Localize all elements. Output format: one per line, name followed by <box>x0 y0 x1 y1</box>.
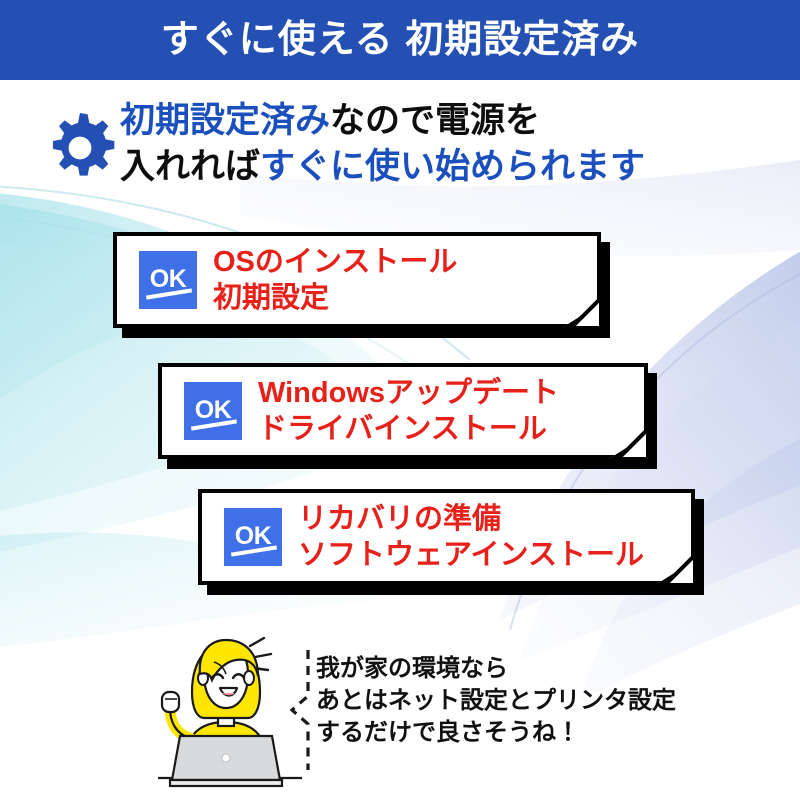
headline-line-1: 初期設定済みなので電源を <box>120 98 796 144</box>
feature-card-os-install: OK OSのインストール 初期設定 <box>113 232 601 328</box>
card-line-2: 初期設定 <box>213 280 457 316</box>
header-banner: すぐに使える 初期設定済み <box>0 0 800 80</box>
card-line-2: ソフトウェアインストール <box>298 537 644 573</box>
ok-badge-icon: OK <box>184 382 242 440</box>
bubble-line-2: あとはネット設定とプリンタ設定 <box>316 685 706 717</box>
card-line-2: ドライバインストール <box>258 411 559 447</box>
ok-badge-icon: OK <box>224 508 282 566</box>
headline-text: 初期設定済みなので電源を 入れればすぐに使い始められます <box>120 98 796 190</box>
card-line-1: リカバリの準備 <box>298 501 644 537</box>
card-body: OK リカバリの準備 ソフトウェアインストール <box>198 489 695 585</box>
card-line-1: OSのインストール <box>213 244 457 280</box>
card-text: OSのインストール 初期設定 <box>213 244 457 316</box>
laptop-logo <box>222 754 230 762</box>
card-body: OK OSのインストール 初期設定 <box>113 232 601 328</box>
laptop-base <box>170 780 282 786</box>
bubble-tail-icon <box>286 648 320 773</box>
header-title: すぐに使える 初期設定済み <box>161 21 639 59</box>
card-line-1: Windowsアップデート <box>258 375 559 411</box>
ok-badge-icon: OK <box>139 251 197 309</box>
wave-lavender-2 <box>520 300 800 660</box>
headline-plain-2: 入れれば <box>120 147 260 186</box>
card-body: OK Windowsアップデート ドライバインストール <box>158 363 648 459</box>
card-text: Windowsアップデート ドライバインストール <box>258 375 559 447</box>
speech-bubble: 我が家の環境なら あとはネット設定とプリンタ設定 するだけで良さそうね！ <box>286 648 706 773</box>
card-text: リカバリの準備 ソフトウェアインストール <box>298 501 644 573</box>
bubble-line-3: するだけで良さそうね！ <box>316 717 706 749</box>
headline-line-2: 入れればすぐに使い始められます <box>120 144 796 190</box>
feature-card-recovery-software: OK リカバリの準備 ソフトウェアインストール <box>198 489 695 585</box>
headline-highlight-1: 初期設定済み <box>120 101 330 140</box>
feature-card-windows-update: OK Windowsアップデート ドライバインストール <box>158 363 648 459</box>
bubble-line-1: 我が家の環境なら <box>316 653 706 685</box>
bubble-text: 我が家の環境なら あとはネット設定とプリンタ設定 するだけで良さそうね！ <box>316 653 706 749</box>
fist <box>162 692 179 712</box>
headline-plain-1: なので電源を <box>330 101 540 140</box>
headline-block: 初期設定済みなので電源を 入れればすぐに使い始められます <box>0 98 800 208</box>
headline-highlight-2: すぐに使い始められます <box>260 147 645 186</box>
promo-banner: すぐに使える 初期設定済み 初期設定済みなので電源を 入れればすぐに使い始められ… <box>0 0 800 800</box>
gear-icon <box>42 110 118 186</box>
ear-right <box>244 671 254 685</box>
